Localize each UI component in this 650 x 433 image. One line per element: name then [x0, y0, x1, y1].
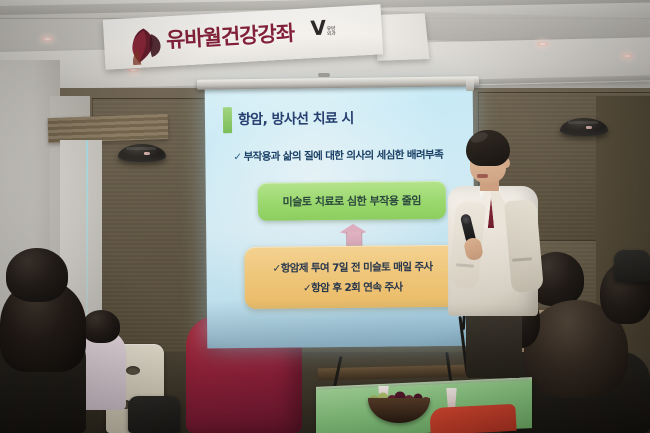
slide-green-box: 미슬토 치료로 심한 부작용 줄임	[258, 181, 446, 221]
screen-roller-end-cap	[466, 77, 474, 91]
wall-speaker-icon	[560, 118, 608, 136]
presenter-trousers	[466, 310, 522, 378]
flower-icon	[123, 25, 169, 65]
recessed-light-icon	[537, 42, 548, 46]
red-cloth	[429, 404, 516, 433]
arrow-stem	[346, 232, 362, 246]
slide-accent-bar	[223, 107, 232, 133]
banner-logo-subtext: 유방외과	[327, 27, 336, 38]
screen-roller-knob	[318, 73, 330, 77]
stacking-chair-dark	[128, 396, 180, 433]
presenter-mouth	[477, 174, 488, 178]
banner-title: 유바월건강강좌	[165, 17, 295, 54]
stacking-chair-dark	[614, 250, 650, 282]
recessed-light-icon	[128, 68, 139, 72]
check-icon: ✓	[233, 151, 241, 163]
slide-yellow-line-1: ✓항암제 투여 7일 전 미슬토 매일 주사	[272, 259, 432, 276]
speaker-grille	[568, 121, 598, 124]
speaker-grille	[126, 147, 156, 150]
presenter-hair	[466, 130, 510, 166]
slide-bullet-text: 부작용과 삶의 질에 대한 의사의 세심한 배려부족	[244, 149, 444, 163]
banner-check-logo-icon: V	[310, 17, 327, 38]
wall-speaker-icon	[118, 144, 166, 162]
chair-handle-hole	[126, 366, 140, 375]
lecture-room-photo: 유바월건강강좌 V 유방외과 항암, 방사선 치료 시 ✓부작용과 삶의 질에 …	[0, 0, 650, 433]
audience-head	[82, 310, 120, 343]
recessed-light-icon	[622, 54, 633, 58]
lecturer-speaker	[440, 130, 550, 380]
slide-bullet-line: ✓부작용과 삶의 질에 대한 의사의 세심한 배려부족	[233, 147, 443, 164]
slide-yellow-line-2: ✓항암 후 2회 연속 주사	[303, 279, 403, 295]
arrow-up-icon	[337, 224, 369, 245]
screen-shadow-gradient	[207, 298, 475, 349]
recessed-light-icon	[42, 37, 53, 41]
audience-head-rear	[6, 248, 68, 302]
projection-screen: 항암, 방사선 치료 시 ✓부작용과 삶의 질에 대한 의사의 세심한 배려부족…	[205, 85, 476, 349]
window-blind	[48, 114, 169, 143]
slide-green-box-text: 미슬토 치료로 심한 부작용 줄임	[283, 192, 422, 209]
slide-title: 항암, 방사선 치료 시	[238, 108, 354, 129]
